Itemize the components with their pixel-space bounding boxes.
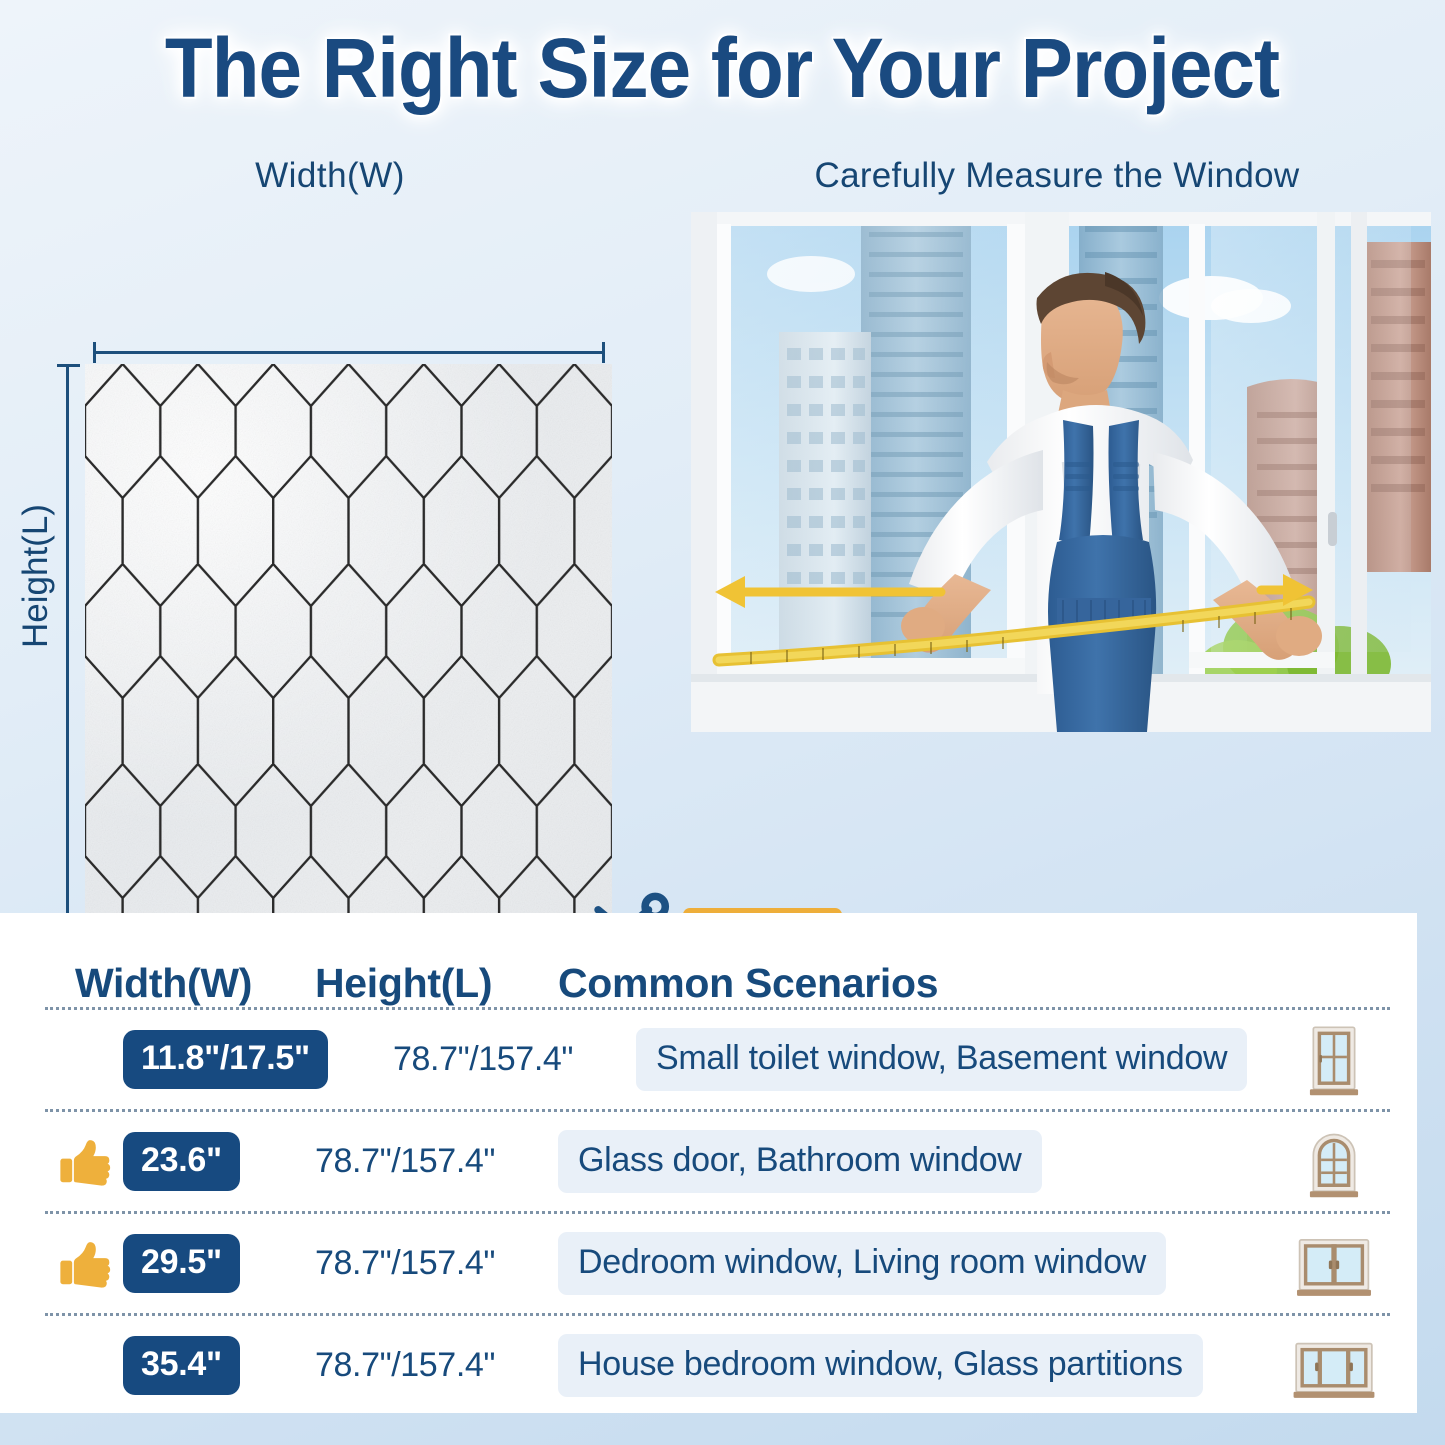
height-cell: 78.7"/157.4" bbox=[315, 1142, 558, 1181]
scenario-cell: Glass door, Bathroom window bbox=[558, 1130, 1278, 1193]
scenario-text: Small toilet window, Basement window bbox=[636, 1028, 1247, 1091]
dimension-line-horizontal bbox=[93, 351, 605, 354]
window-arched-icon bbox=[1291, 1119, 1377, 1205]
photo-caption: Carefully Measure the Window bbox=[683, 156, 1431, 196]
column-header-height: Height(L) bbox=[315, 960, 558, 1007]
width-dimension-label: Width(W) bbox=[0, 156, 660, 196]
height-dimension-line bbox=[57, 364, 79, 934]
page-header: The Right Size for Your Project bbox=[0, 0, 1445, 136]
width-badge: 35.4" bbox=[123, 1336, 240, 1395]
width-dimension-line bbox=[93, 342, 605, 362]
window-double-casement-icon bbox=[1291, 1221, 1377, 1307]
page-title: The Right Size for Your Project bbox=[165, 20, 1279, 117]
window-icon-cell bbox=[1278, 1221, 1390, 1307]
scenario-cell: Dedroom window, Living room window bbox=[558, 1232, 1278, 1295]
recommended-marker-cell bbox=[45, 1135, 123, 1189]
scenario-cell: House bedroom window, Glass partitions bbox=[558, 1334, 1278, 1397]
thumbs-up-icon bbox=[57, 1135, 111, 1189]
height-dimension-label: Height(L) bbox=[16, 476, 56, 676]
recommended-marker-cell bbox=[45, 1237, 123, 1291]
photo-illustration bbox=[691, 212, 1431, 732]
table-row[interactable]: 23.6" 78.7"/157.4" Glass door, Bathroom … bbox=[45, 1112, 1390, 1211]
top-section: Width(W) Height(L) bbox=[0, 136, 1445, 906]
window-tall-4pane-icon bbox=[1291, 1017, 1377, 1103]
width-cell: 23.6" bbox=[123, 1132, 315, 1191]
window-icon-cell bbox=[1278, 1017, 1390, 1103]
dimension-tick-right bbox=[602, 342, 605, 363]
table-row[interactable]: 35.4" 78.7"/157.4" House bedroom window,… bbox=[45, 1316, 1390, 1415]
film-hexagon-pattern bbox=[85, 364, 612, 974]
window-icon-cell bbox=[1278, 1323, 1390, 1409]
table-row[interactable]: 29.5" 78.7"/157.4" Dedroom window, Livin… bbox=[45, 1214, 1390, 1313]
column-header-width: Width(W) bbox=[75, 960, 315, 1007]
window-triple-wide-icon bbox=[1291, 1323, 1377, 1409]
height-cell: 78.7"/157.4" bbox=[393, 1040, 636, 1079]
window-icon-cell bbox=[1278, 1119, 1390, 1205]
scenario-cell: Small toilet window, Basement window bbox=[636, 1028, 1278, 1091]
column-header-scenario: Common Scenarios bbox=[558, 960, 1390, 1007]
scenario-text: House bedroom window, Glass partitions bbox=[558, 1334, 1203, 1397]
width-badge: 23.6" bbox=[123, 1132, 240, 1191]
window-film-sheet bbox=[85, 364, 612, 974]
measure-photo-block: Carefully Measure the Window bbox=[683, 156, 1431, 886]
dimension-line-vertical bbox=[66, 364, 69, 934]
table-row[interactable]: 11.8"/17.5" 78.7"/157.4" Small toilet wi… bbox=[45, 1010, 1390, 1109]
dimension-tick-top bbox=[57, 364, 80, 367]
size-table: Width(W) Height(L) Common Scenarios 11.8… bbox=[45, 931, 1390, 1415]
width-cell: 11.8"/17.5" bbox=[123, 1030, 393, 1089]
thumbs-up-icon bbox=[57, 1237, 111, 1291]
width-badge: 29.5" bbox=[123, 1234, 240, 1293]
film-measurement-diagram: Width(W) Height(L) bbox=[0, 136, 660, 906]
dimension-tick-left bbox=[93, 342, 96, 363]
scenario-text: Glass door, Bathroom window bbox=[558, 1130, 1042, 1193]
table-header-row: Width(W) Height(L) Common Scenarios bbox=[45, 931, 1390, 1007]
height-cell: 78.7"/157.4" bbox=[315, 1244, 558, 1283]
width-cell: 35.4" bbox=[123, 1336, 315, 1395]
width-cell: 29.5" bbox=[123, 1234, 315, 1293]
height-cell: 78.7"/157.4" bbox=[315, 1346, 558, 1385]
scenario-text: Dedroom window, Living room window bbox=[558, 1232, 1166, 1295]
size-table-panel: Width(W) Height(L) Common Scenarios 11.8… bbox=[0, 913, 1417, 1413]
width-badge: 11.8"/17.5" bbox=[123, 1030, 328, 1089]
window-measuring-photo bbox=[691, 212, 1431, 732]
